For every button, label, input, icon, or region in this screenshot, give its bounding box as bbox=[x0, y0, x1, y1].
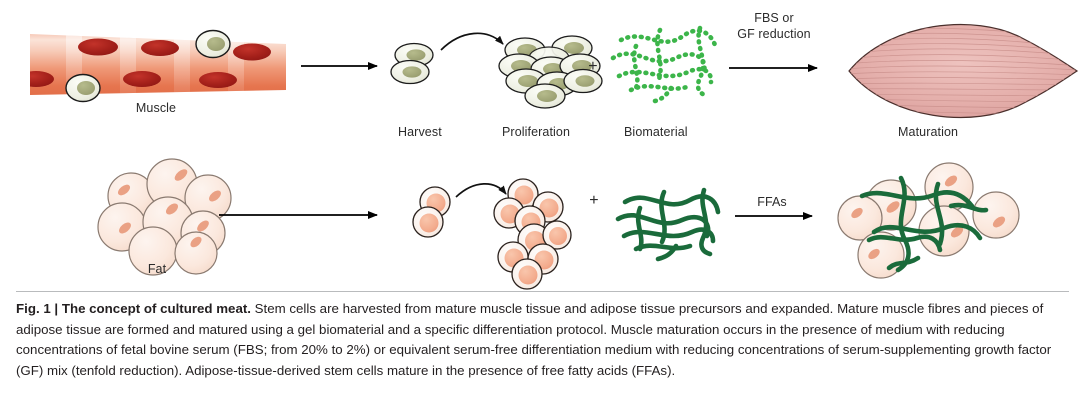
biomaterial-strands-light bbox=[613, 28, 716, 101]
label-biomaterial: Biomaterial bbox=[624, 125, 688, 139]
label-ffas: FFAs bbox=[757, 195, 787, 209]
label-maturation: Maturation bbox=[898, 125, 958, 139]
satellite-cell bbox=[196, 31, 230, 58]
figure-illustration bbox=[0, 0, 1085, 290]
arrow-harvest-to-proliferation bbox=[441, 33, 503, 50]
plus-sign-top: + bbox=[588, 58, 597, 76]
matured-adipose-tissue bbox=[838, 163, 1019, 278]
caption-title: Fig. 1 | The concept of cultured meat. bbox=[16, 301, 251, 316]
figure-caption: Fig. 1 | The concept of cultured meat. S… bbox=[16, 299, 1069, 381]
label-muscle: Muscle bbox=[136, 101, 176, 115]
label-fbs-reduction-line2: GF reduction bbox=[737, 27, 810, 41]
label-fbs-reduction-line1: FBS or bbox=[754, 11, 794, 25]
caption-divider bbox=[16, 291, 1069, 292]
figure-page: Muscle Harvest Proliferation Biomaterial… bbox=[0, 0, 1085, 407]
label-fat: Fat bbox=[148, 262, 166, 276]
proliferating-stem-cells bbox=[499, 36, 602, 108]
satellite-cell bbox=[66, 75, 100, 102]
muscle-fiber-illustration bbox=[18, 30, 290, 102]
fat-tissue-illustration bbox=[98, 159, 231, 275]
biomaterial-strands-dark bbox=[618, 190, 718, 259]
harvested-adipocyte-precursors bbox=[413, 187, 450, 237]
proliferating-adipocytes bbox=[494, 179, 571, 289]
arrow-precursor-proliferation bbox=[456, 184, 506, 197]
harvested-stem-cells bbox=[391, 44, 433, 84]
label-proliferation: Proliferation bbox=[502, 125, 570, 139]
label-harvest: Harvest bbox=[398, 125, 442, 139]
mature-muscle-fibre bbox=[845, 24, 1082, 117]
plus-sign-bottom: + bbox=[589, 192, 598, 210]
